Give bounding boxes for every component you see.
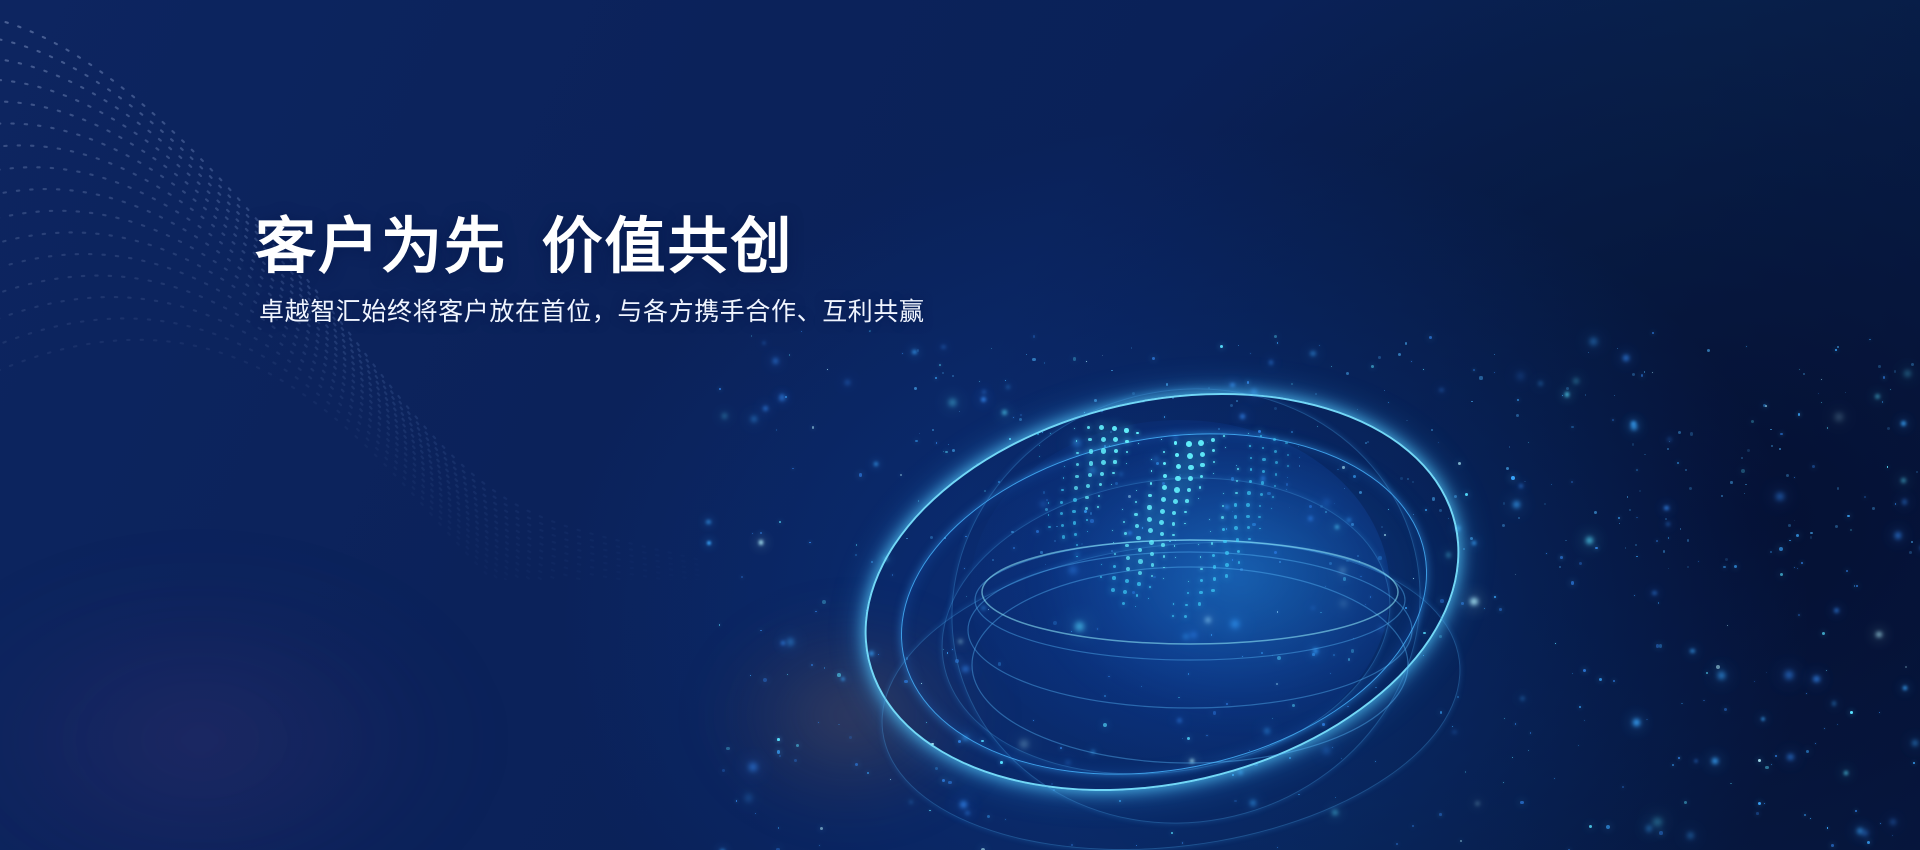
hero-copy: 客户为先 价值共创 卓越智汇始终将客户放在首位，与各方携手合作、互利共赢 — [255, 215, 925, 330]
particle-globe-graphic — [820, 330, 1520, 850]
page-subtitle: 卓越智汇始终将客户放在首位，与各方携手合作、互利共赢 — [259, 295, 925, 330]
hero-banner: 客户为先 价值共创 卓越智汇始终将客户放在首位，与各方携手合作、互利共赢 — [0, 0, 1920, 850]
globe-halftone-landmass — [1000, 425, 1330, 615]
page-title: 客户为先 价值共创 — [255, 215, 925, 281]
